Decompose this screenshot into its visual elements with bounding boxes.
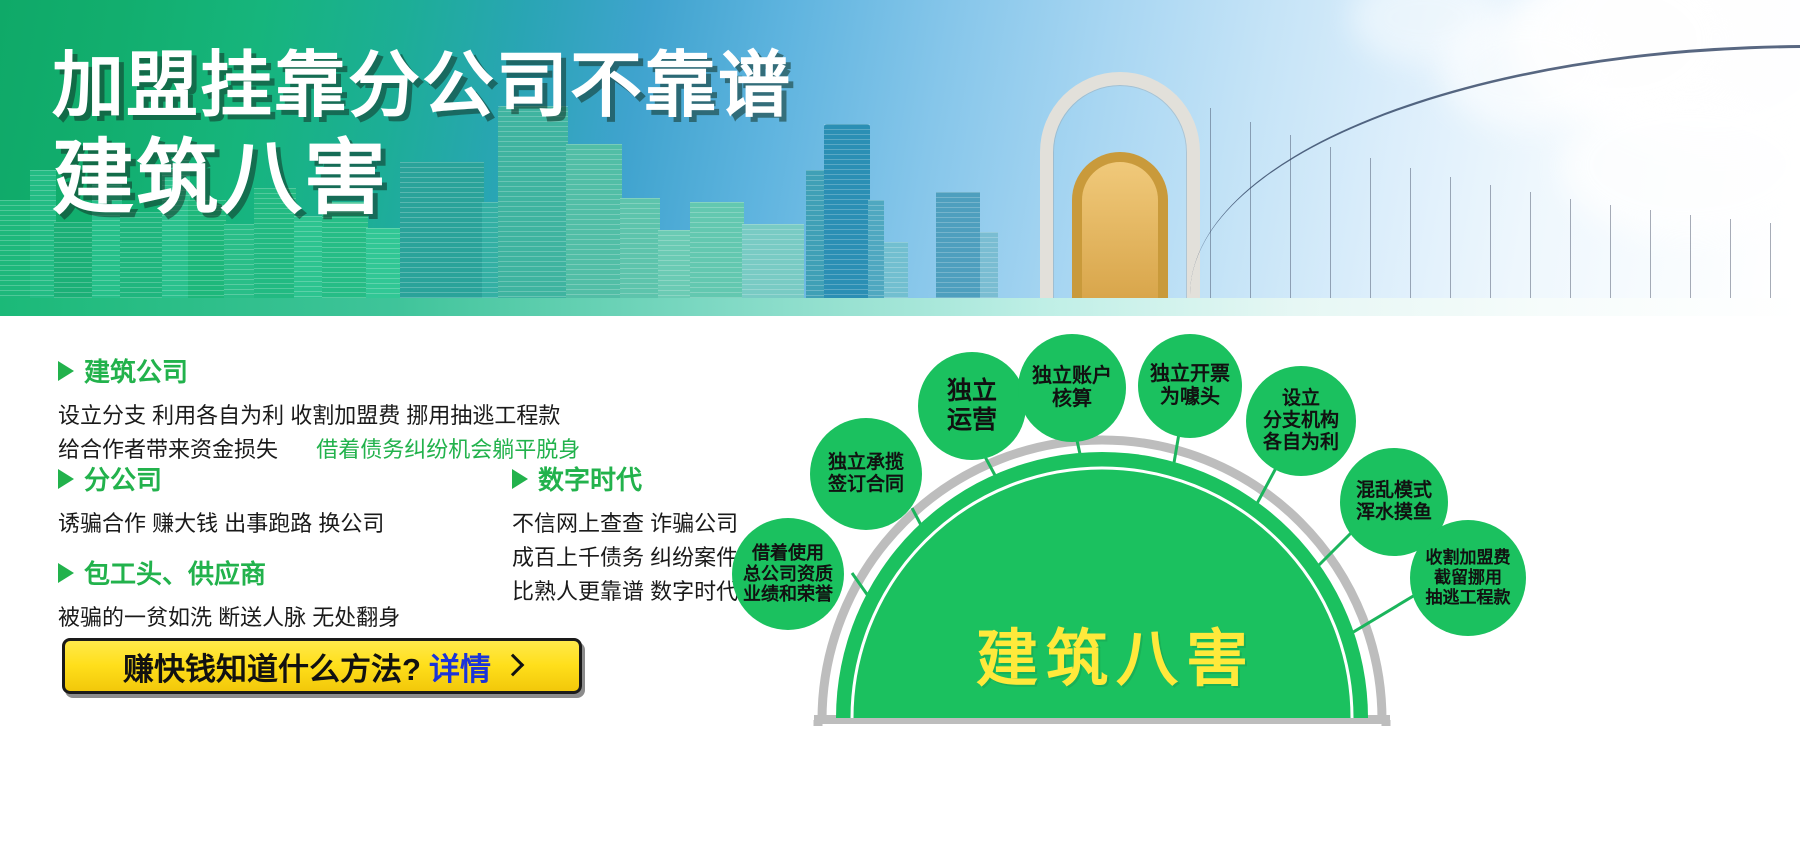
bubble-line: 收割加盟费 (1426, 548, 1511, 568)
section-heading-foreman-supplier: 包工头、供应商 (58, 554, 400, 591)
section-body-digital-era: 不信网上查查 诈骗公司 成百上千债务 纠纷案件 比熟人更靠谱 数字时代 (512, 507, 738, 609)
section-heading-label: 数字时代 (538, 460, 642, 497)
section-heading-branch-company: 分公司 (58, 460, 384, 497)
banner-title-group: 加盟挂靠分公司不靠谱 建筑八害 (52, 48, 792, 223)
section-text-line: 设立分支 利用各自为利 收割加盟费 挪用抽逃工程款 (58, 399, 580, 433)
bubble-line: 独立 (947, 377, 997, 406)
section-heading-construction-company: 建筑公司 (58, 352, 580, 389)
bubble-line: 分支机构 (1263, 410, 1339, 432)
section-text-line: 被骗的一贫如洗 断送人脉 无处翻身 (58, 601, 400, 635)
bubble-line: 各自为利 (1263, 432, 1339, 454)
triangle-bullet-icon (58, 563, 74, 583)
cta-button[interactable]: 赚快钱知道什么方法? 详情 (62, 638, 582, 694)
bubble-line: 签订合同 (828, 474, 904, 496)
triangle-bullet-icon (58, 469, 74, 489)
hero-banner: 加盟挂靠分公司不靠谱 建筑八害 (0, 0, 1800, 320)
section-text-black: 给合作者带来资金损失 (58, 437, 278, 462)
section-construction-company: 建筑公司 设立分支 利用各自为利 收割加盟费 挪用抽逃工程款 给合作者带来资金损… (58, 352, 580, 467)
section-heading-digital-era: 数字时代 (512, 460, 738, 497)
section-text-line: 成百上千债务 纠纷案件 (512, 541, 738, 575)
banner-title-line-1: 加盟挂靠分公司不靠谱 (52, 48, 792, 124)
section-body-construction-company: 设立分支 利用各自为利 收割加盟费 挪用抽逃工程款 给合作者带来资金损失 借着债… (58, 399, 580, 467)
banner-divider (0, 316, 1800, 322)
section-text-line: 比熟人更靠谱 数字时代 (512, 575, 738, 609)
section-body-branch-company: 诱骗合作 赚大钱 出事跑路 换公司 (58, 507, 384, 541)
bubble-independent-contract[interactable]: 独立承揽 签订合同 (810, 418, 922, 530)
bridge-arch-inner (1072, 152, 1168, 302)
bubble-harvest-fee[interactable]: 收割加盟费 截留挪用 抽逃工程款 (1410, 520, 1526, 636)
bubble-setup-branch[interactable]: 设立 分支机构 各自为利 (1246, 366, 1356, 476)
bubble-line: 借着使用 (752, 543, 824, 564)
triangle-bullet-icon (58, 361, 74, 381)
bubble-line: 设立 (1282, 388, 1320, 410)
section-heading-label: 分公司 (84, 460, 162, 497)
bridge-main-cable (1190, 45, 1800, 295)
cta-button-label: 赚快钱知道什么方法? (123, 644, 421, 689)
triangle-bullet-icon (512, 469, 528, 489)
section-branch-company: 分公司 诱骗合作 赚大钱 出事跑路 换公司 (58, 460, 384, 541)
bubble-line: 浑水摸鱼 (1356, 502, 1432, 524)
bubble-line: 业绩和荣誉 (743, 584, 833, 605)
bubble-line: 抽逃工程款 (1426, 588, 1511, 608)
bubble-line: 独立承揽 (828, 452, 904, 474)
bubble-line: 混乱模式 (1356, 480, 1432, 502)
section-body-foreman-supplier: 被骗的一贫如洗 断送人脉 无处翻身 (58, 601, 400, 635)
bubble-line: 截留挪用 (1434, 568, 1502, 588)
section-heading-label: 包工头、供应商 (84, 554, 266, 591)
section-heading-label: 建筑公司 (84, 352, 188, 389)
bubble-independent-operation[interactable]: 独立 运营 (918, 352, 1026, 460)
section-text-highlight: 借着债务纠纷机会躺平脱身 (316, 437, 580, 462)
section-text-line: 不信网上查查 诈骗公司 (512, 507, 738, 541)
bubble-line: 总公司资质 (743, 564, 833, 585)
section-digital-era: 数字时代 不信网上查查 诈骗公司 成百上千债务 纠纷案件 比熟人更靠谱 数字时代 (512, 460, 738, 609)
bubble-line: 独立开票 (1150, 363, 1230, 386)
bubble-use-hq-qualification[interactable]: 借着使用 总公司资质 业绩和荣誉 (732, 518, 844, 630)
bubble-line: 独立账户 (1032, 365, 1112, 388)
bubble-line: 运营 (947, 406, 997, 435)
eight-harms-diagram: 建筑八害 借着使用 总公司资质 业绩和荣誉 独立承揽 签订合同 独立 运营 独立… (800, 330, 1800, 844)
chevron-right-icon (502, 654, 525, 677)
bubble-independent-invoice[interactable]: 独立开票 为噱头 (1138, 334, 1242, 438)
section-text-line: 诱骗合作 赚大钱 出事跑路 换公司 (58, 507, 384, 541)
section-foreman-supplier: 包工头、供应商 被骗的一贫如洗 断送人脉 无处翻身 (58, 554, 400, 635)
bubble-line: 为噱头 (1160, 386, 1220, 409)
dome-center-label: 建筑八害 (976, 608, 1256, 698)
bubble-independent-account[interactable]: 独立账户 核算 (1018, 334, 1126, 442)
cta-button-link-label: 详情 (429, 644, 491, 689)
banner-title-line-2: 建筑八害 (52, 136, 792, 223)
left-content-pane: 建筑公司 设立分支 利用各自为利 收割加盟费 挪用抽逃工程款 给合作者带来资金损… (0, 330, 800, 844)
bubble-line: 核算 (1052, 388, 1092, 411)
